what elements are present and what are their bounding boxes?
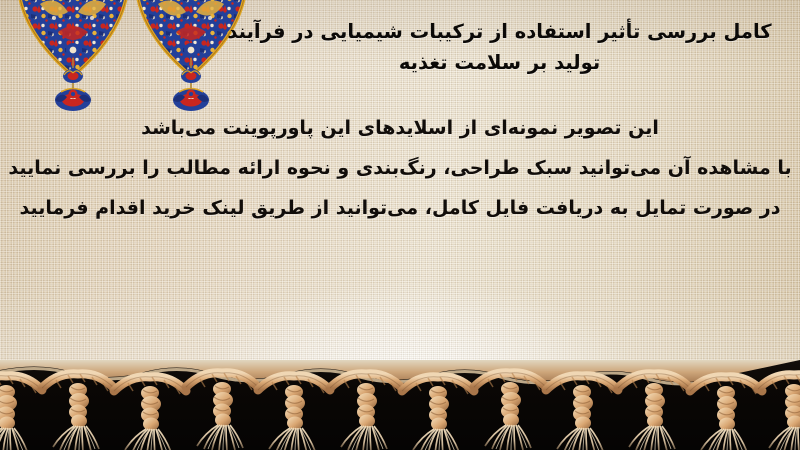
body-text-block: این تصویر نمونه‌ای از اسلایدهای این پاور… <box>8 108 792 228</box>
title-line-2: تولید بر سلامت تغذیه <box>399 51 600 74</box>
title-line-1: کامل بررسی تأثیر استفاده از ترکیبات شیمی… <box>227 20 771 43</box>
body-line-3: در صورت تمایل به دریافت فایل کامل، می‌تو… <box>8 188 792 228</box>
carpet-fringe <box>0 360 800 450</box>
body-line-2: با مشاهده آن می‌توانید سبک طراحی، رنگ‌بن… <box>8 148 792 188</box>
body-line-1: این تصویر نمونه‌ای از اسلایدهای این پاور… <box>8 108 792 148</box>
slide-canvas: کامل بررسی تأثیر استفاده از ترکیبات شیمی… <box>0 0 800 450</box>
slide-text-layer: کامل بررسی تأثیر استفاده از ترکیبات شیمی… <box>0 0 800 378</box>
fringe-tassels-svg <box>0 360 800 450</box>
page-title: کامل بررسی تأثیر استفاده از ترکیبات شیمی… <box>217 16 782 78</box>
